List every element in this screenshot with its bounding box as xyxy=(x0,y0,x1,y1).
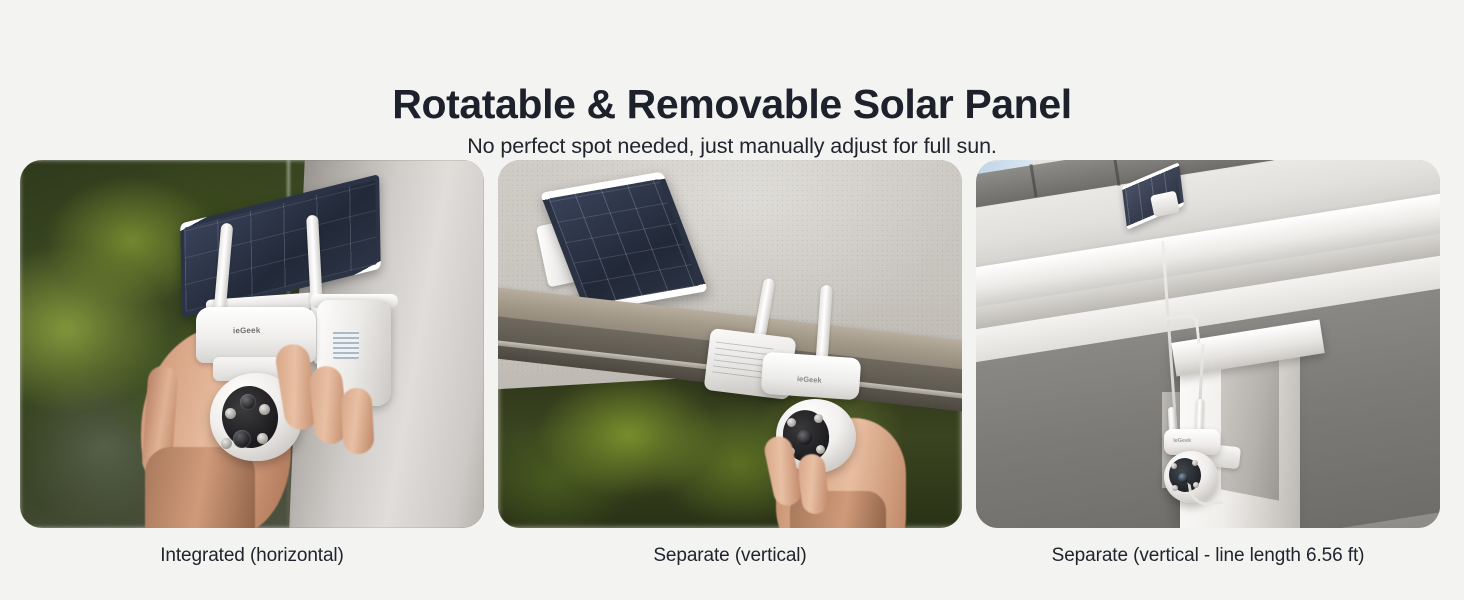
finger xyxy=(341,387,375,455)
product-feature-banner: Rotatable & Removable Solar Panel No per… xyxy=(0,0,1464,600)
brand-logo-label: ieGeek xyxy=(233,325,261,334)
led-icon xyxy=(1171,463,1177,469)
caption-integrated-horizontal: Integrated (horizontal) xyxy=(20,536,484,567)
caption-separate-vertical: Separate (vertical) xyxy=(498,536,962,567)
battery-label xyxy=(333,331,359,359)
image-panel-separate-vertical: ieGeek xyxy=(498,160,962,528)
caption-separate-vertical-line: Separate (vertical - line length 6.56 ft… xyxy=(976,536,1440,567)
page-subtitle: No perfect spot needed, just manually ad… xyxy=(0,134,1464,159)
image-panel-separate-vertical-line: ieGeek xyxy=(976,160,1440,528)
power-cable-bend xyxy=(1166,313,1201,346)
heading-block: Rotatable & Removable Solar Panel No per… xyxy=(0,80,1464,159)
led-icon xyxy=(814,414,823,423)
page-title: Rotatable & Removable Solar Panel xyxy=(0,80,1464,128)
camera-lens-icon xyxy=(1178,473,1188,483)
wrist xyxy=(145,447,255,528)
led-icon xyxy=(259,404,270,415)
led-icon xyxy=(787,418,796,427)
camera-lens-upper-icon xyxy=(240,394,256,410)
image-panel-row: ieGeek xyxy=(20,160,1440,528)
brand-logo-label: ieGeek xyxy=(1173,438,1191,444)
led-icon xyxy=(225,408,236,419)
led-icon xyxy=(257,433,268,444)
image-panel-integrated-horizontal: ieGeek xyxy=(20,160,484,528)
led-icon xyxy=(816,445,825,454)
caption-row: Integrated (horizontal) Separate (vertic… xyxy=(20,536,1440,567)
led-icon xyxy=(1172,485,1178,491)
